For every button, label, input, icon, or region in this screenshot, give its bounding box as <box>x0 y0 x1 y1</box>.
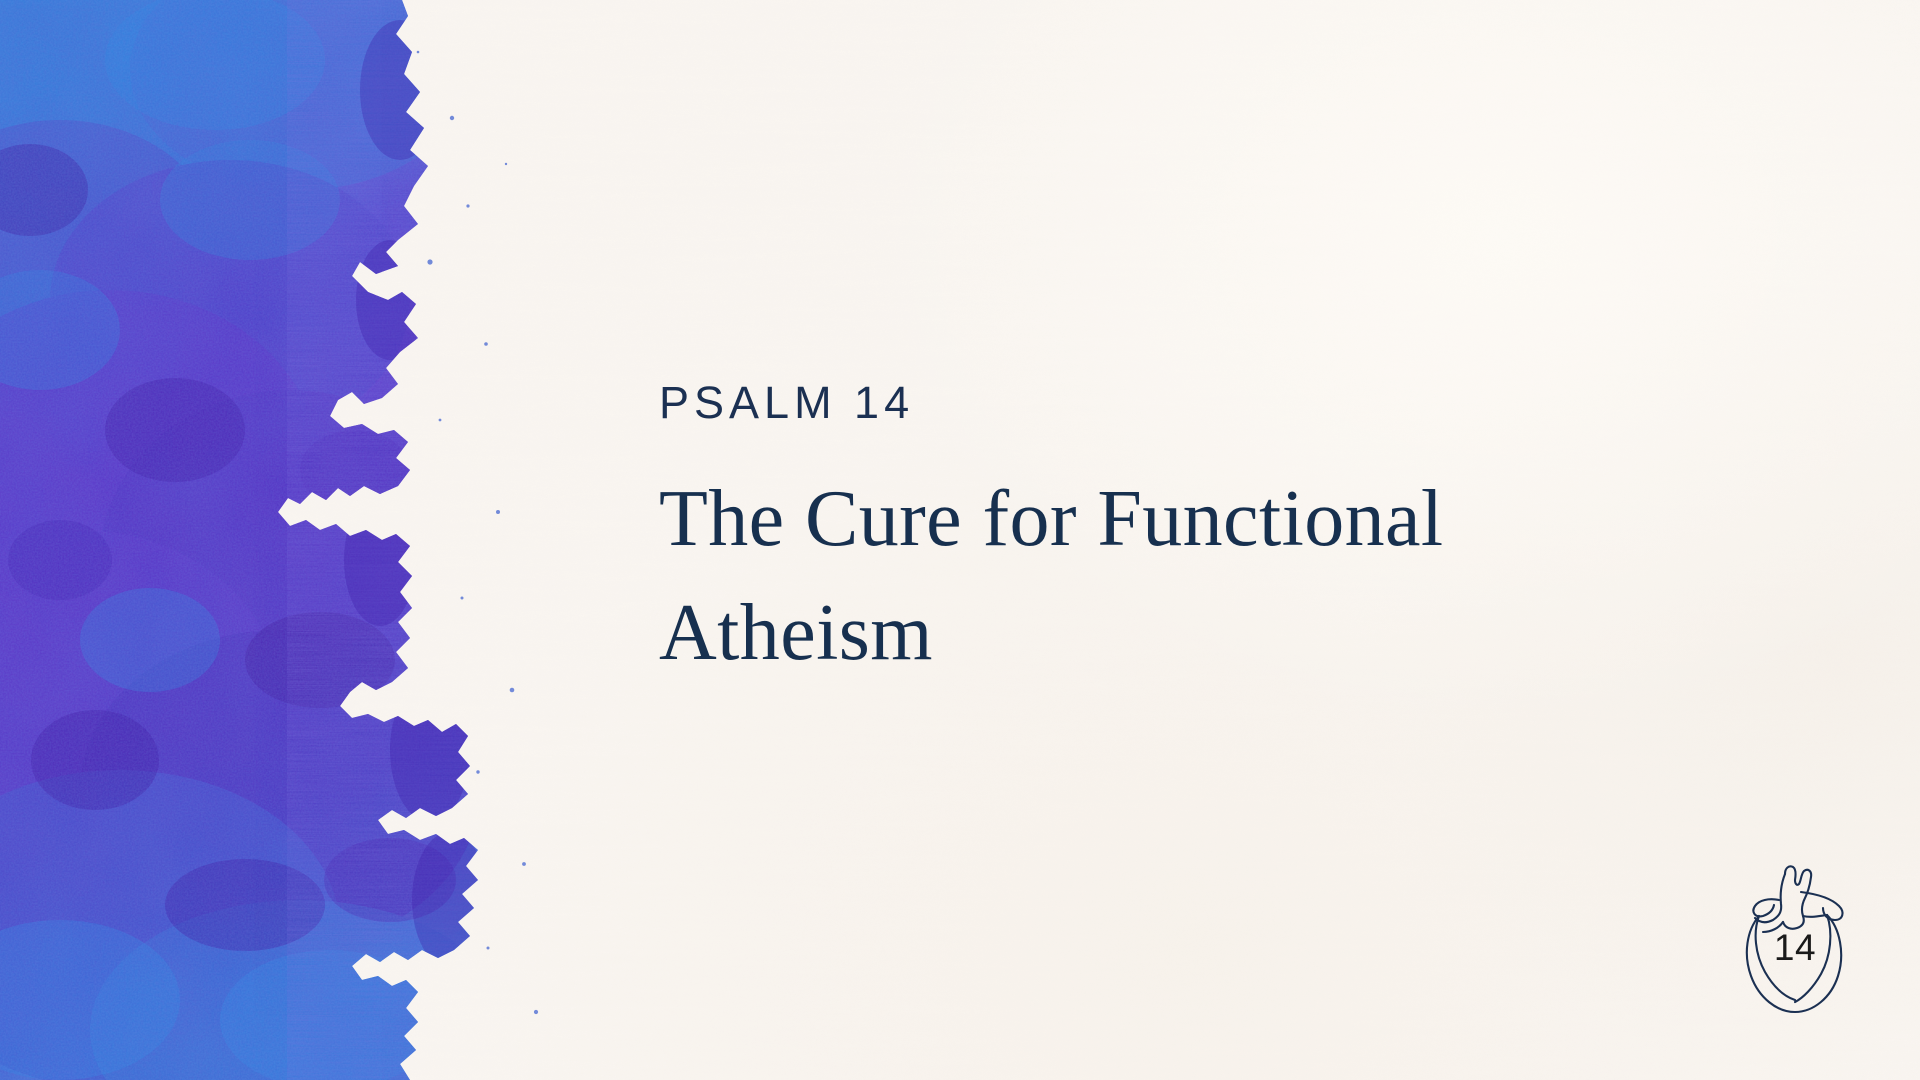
watercolor-brush-panel <box>0 0 560 1080</box>
slide-text-block: PSALM 14 The Cure for Functional Atheism <box>659 380 1699 690</box>
page-title-line-2: Atheism <box>659 577 1699 691</box>
anatomical-heart-icon <box>1739 858 1851 1020</box>
scripture-reference: PSALM 14 <box>659 380 1699 425</box>
page-title-line-1: The Cure for Functional <box>659 463 1699 577</box>
heart-badge: 14 <box>1739 858 1851 1020</box>
title-slide: PSALM 14 The Cure for Functional Atheism <box>0 0 1920 1080</box>
page-title: The Cure for Functional Atheism <box>659 463 1699 690</box>
